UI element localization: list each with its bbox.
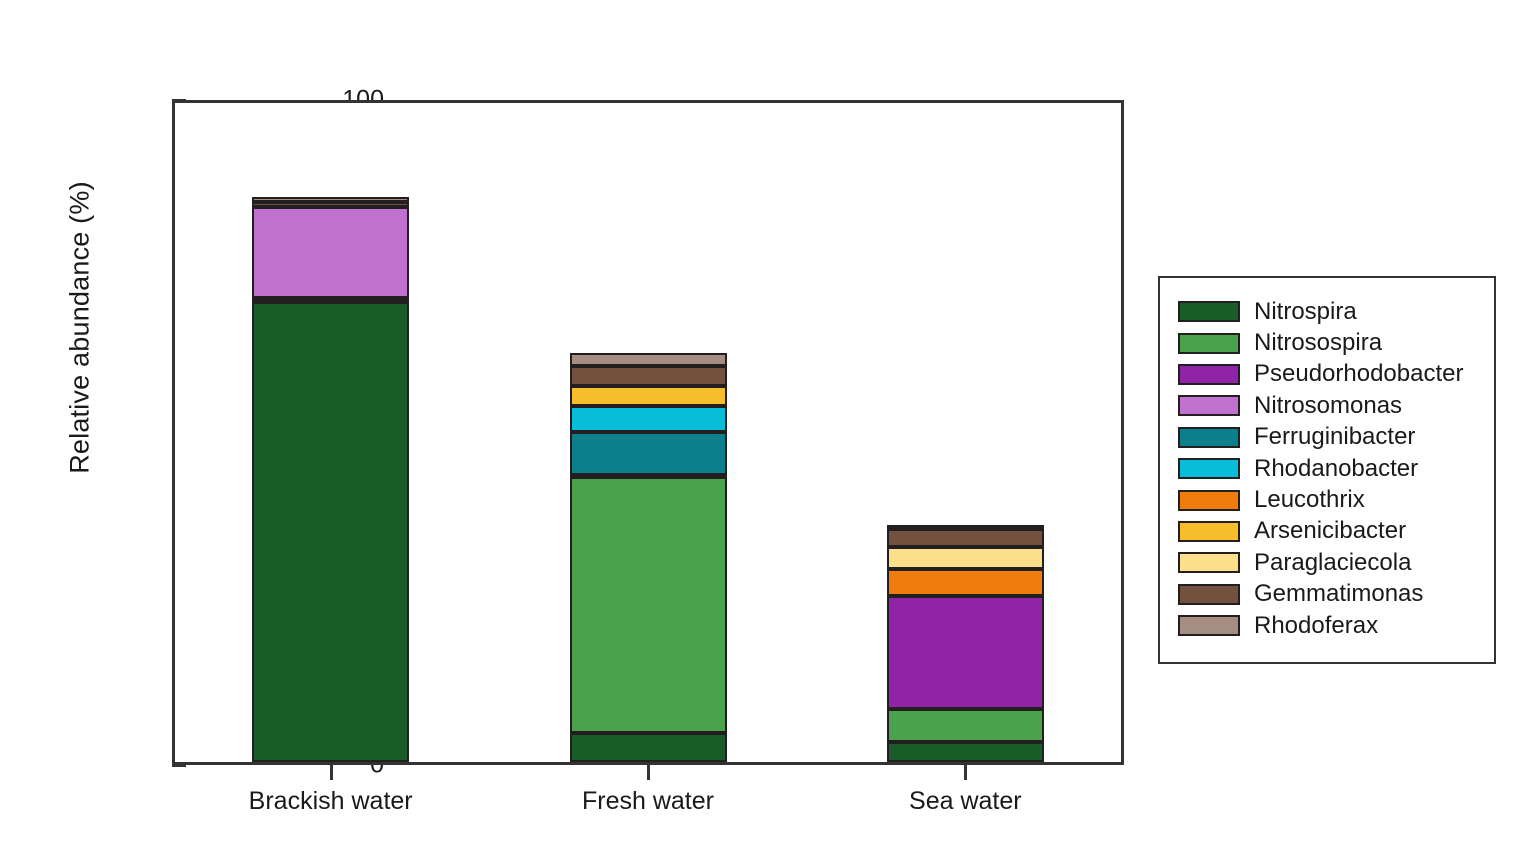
legend-label: Leucothrix xyxy=(1254,488,1365,512)
legend-label: Arsenicibacter xyxy=(1254,519,1406,543)
legend-item-leucothrix[interactable]: Leucothrix xyxy=(1178,484,1494,515)
legend-swatch-icon xyxy=(1178,333,1240,354)
legend-swatch-icon xyxy=(1178,395,1240,416)
bar-segment-nitrosospira[interactable] xyxy=(570,477,727,733)
bar-brackish-water[interactable] xyxy=(252,97,409,762)
bar-segment-nitrospira[interactable] xyxy=(252,302,409,762)
bar-segment-rhodoferax[interactable] xyxy=(887,525,1044,529)
legend-item-ferruginibacter[interactable]: Ferruginibacter xyxy=(1178,422,1494,453)
bar-segment-pseudorhodobacter[interactable] xyxy=(887,596,1044,709)
bar-sea-water[interactable] xyxy=(887,97,1044,762)
legend-swatch-icon xyxy=(1178,301,1240,322)
chart-legend: NitrospiraNitrosospiraPseudorhodobacterN… xyxy=(1158,276,1496,664)
legend-label: Nitrosospira xyxy=(1254,331,1382,355)
bar-segment-arsenicibacter[interactable] xyxy=(570,386,727,406)
bar-segment-rhodoferax[interactable] xyxy=(570,353,727,366)
bar-segment-gemmatimonas[interactable] xyxy=(887,529,1044,547)
legend-swatch-icon xyxy=(1178,521,1240,542)
legend-label: Ferruginibacter xyxy=(1254,425,1415,449)
plot-area xyxy=(172,100,1124,765)
legend-swatch-icon xyxy=(1178,490,1240,511)
x-tick-label: Fresh water xyxy=(488,787,808,816)
legend-swatch-icon xyxy=(1178,427,1240,448)
legend-swatch-icon xyxy=(1178,584,1240,605)
legend-item-pseudorhodobacter[interactable]: Pseudorhodobacter xyxy=(1178,359,1494,390)
legend-item-nitrospira[interactable]: Nitrospira xyxy=(1178,296,1494,327)
stacked-bar-chart-figure: Relative abundance (%) 020406080100 Brac… xyxy=(0,0,1536,864)
legend-item-rhodoferax[interactable]: Rhodoferax xyxy=(1178,610,1494,641)
bar-segment-nitrosomonas[interactable] xyxy=(252,207,409,298)
bar-segment-gemmatimonas[interactable] xyxy=(570,366,727,386)
legend-item-nitrosospira[interactable]: Nitrosospira xyxy=(1178,327,1494,358)
legend-item-nitrosomonas[interactable]: Nitrosomonas xyxy=(1178,390,1494,421)
legend-swatch-icon xyxy=(1178,552,1240,573)
bar-segment-nitrosospira[interactable] xyxy=(887,709,1044,742)
legend-swatch-icon xyxy=(1178,458,1240,479)
bar-segment-rhodanobacter[interactable] xyxy=(570,406,727,432)
legend-item-rhodanobacter[interactable]: Rhodanobacter xyxy=(1178,453,1494,484)
legend-label: Nitrosomonas xyxy=(1254,394,1402,418)
bar-fresh-water[interactable] xyxy=(570,97,727,762)
bar-segment-pseudorhodobacter[interactable] xyxy=(252,298,409,302)
x-tick-label: Sea water xyxy=(805,787,1125,816)
x-tick-mark xyxy=(647,765,650,780)
bar-segment-nitrospira[interactable] xyxy=(887,742,1044,762)
x-tick-mark xyxy=(964,765,967,780)
legend-label: Paraglaciecola xyxy=(1254,551,1411,575)
legend-label: Nitrospira xyxy=(1254,300,1357,324)
legend-item-gemmatimonas[interactable]: Gemmatimonas xyxy=(1178,579,1494,610)
legend-label: Rhodanobacter xyxy=(1254,457,1418,481)
bar-segment-paraglaciecola[interactable] xyxy=(887,547,1044,569)
bar-segment-nitrospira[interactable] xyxy=(570,733,727,762)
legend-label: Rhodoferax xyxy=(1254,614,1378,638)
legend-swatch-icon xyxy=(1178,364,1240,385)
legend-swatch-icon xyxy=(1178,615,1240,636)
x-tick-mark xyxy=(330,765,333,780)
y-axis-title: Relative abundance (%) xyxy=(65,128,96,528)
bar-segment-rhodoferax[interactable] xyxy=(252,197,409,202)
bar-segment-leucothrix[interactable] xyxy=(887,569,1044,596)
bar-segment-gemmatimonas[interactable] xyxy=(252,202,409,207)
x-tick-label: Brackish water xyxy=(171,787,491,816)
legend-item-arsenicibacter[interactable]: Arsenicibacter xyxy=(1178,516,1494,547)
legend-label: Gemmatimonas xyxy=(1254,582,1423,606)
bar-segment-ferruginibacter[interactable] xyxy=(570,432,727,475)
legend-item-paraglaciecola[interactable]: Paraglaciecola xyxy=(1178,547,1494,578)
legend-label: Pseudorhodobacter xyxy=(1254,362,1463,386)
